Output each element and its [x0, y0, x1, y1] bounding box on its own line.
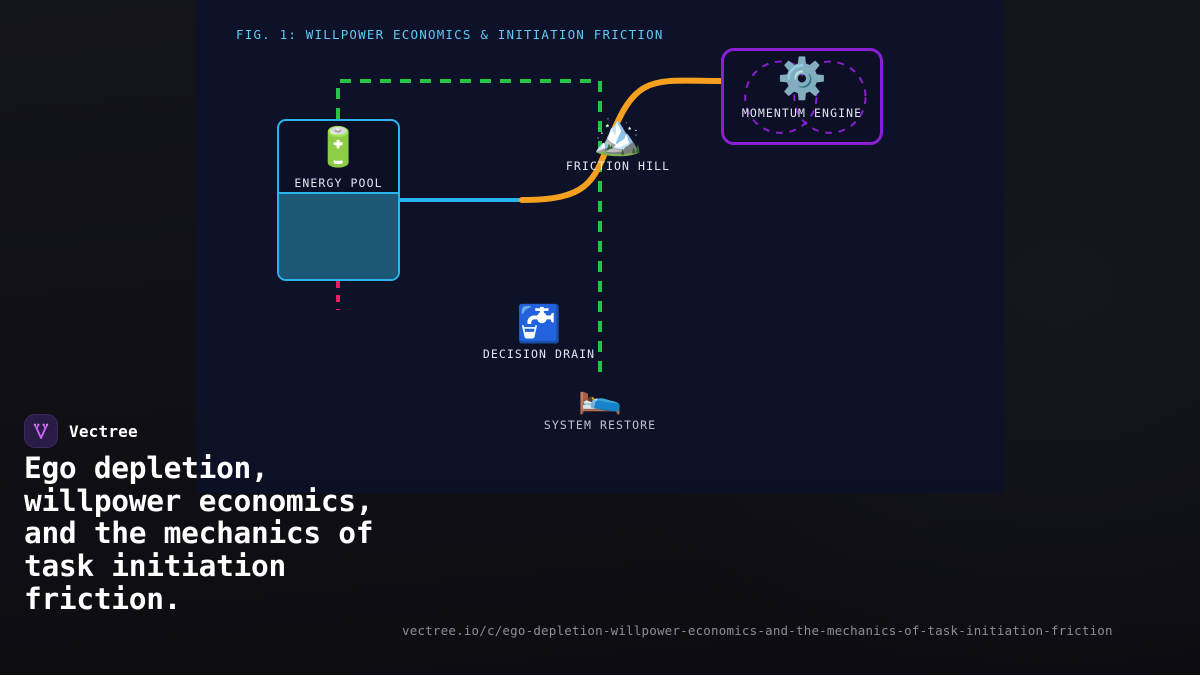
url-label: vectree.io/c/ego-depletion-willpower-eco…	[402, 623, 1113, 638]
mountain-emoji: 🏔️	[543, 115, 693, 155]
energy-pool-fill	[279, 192, 398, 279]
gear-emoji: ⚙️	[724, 59, 880, 99]
momentum-engine-label: MOMENTUM ENGINE	[724, 106, 880, 120]
figure-panel: FIG. 1: WILLPOWER ECONOMICS & INITIATION…	[196, 0, 1004, 493]
headline: Ego depletion, willpower economics, and …	[24, 452, 424, 616]
vectree-logo-icon	[24, 414, 58, 448]
node-friction-hill[interactable]: 🏔️ FRICTION HILL	[543, 115, 693, 173]
system-restore-label: SYSTEM RESTORE	[525, 418, 675, 432]
decision-drain-label: DECISION DRAIN	[464, 347, 614, 361]
brand-name: Vectree	[69, 422, 138, 441]
energy-pool-label: ENERGY POOL	[279, 176, 398, 190]
node-momentum-engine[interactable]: ⚙️ MOMENTUM ENGINE	[721, 48, 883, 145]
node-decision-drain[interactable]: 🚰 DECISION DRAIN	[464, 307, 614, 361]
battery-emoji: 🔋	[279, 128, 398, 166]
potable-water-emoji: 🚰	[464, 307, 614, 343]
node-energy-pool[interactable]: 🔋 ENERGY POOL	[277, 119, 400, 281]
poster-canvas: FIG. 1: WILLPOWER ECONOMICS & INITIATION…	[0, 0, 1200, 675]
friction-hill-label: FRICTION HILL	[543, 159, 693, 173]
person-in-bed-emoji: 🛌	[525, 378, 675, 414]
brand-row: Vectree	[24, 414, 138, 448]
node-system-restore[interactable]: 🛌 SYSTEM RESTORE	[525, 378, 675, 432]
